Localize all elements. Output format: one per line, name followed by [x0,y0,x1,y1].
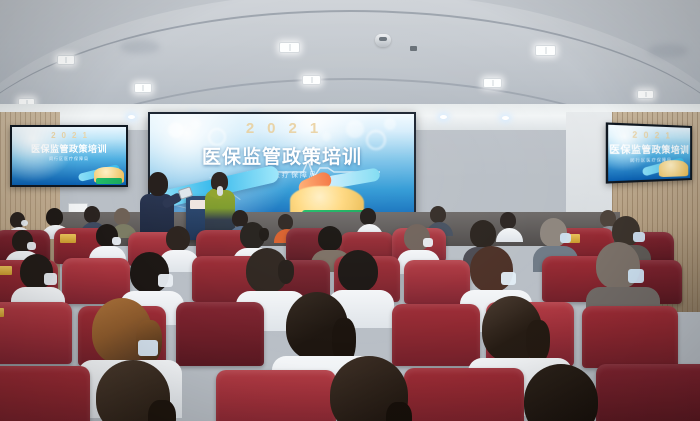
person-head [278,214,293,230]
ponytail [148,400,176,421]
seat-number-plaque [0,308,4,317]
side-display-right-content: 2021 医保监管政策培训 闵行区医疗保障局 [608,125,690,182]
person-head [360,208,376,225]
person-head [470,220,496,248]
led-panel [57,55,75,65]
audience-person [96,224,126,260]
face-mask [560,233,571,243]
led-panel [302,75,321,85]
seat [404,260,470,304]
led-panel [535,45,556,56]
audience-area [0,206,700,421]
side-left-green-bar [96,178,122,184]
person-head [166,226,190,251]
led-panel [483,78,502,88]
seat [176,302,264,366]
ponytail [259,228,269,241]
person-head [470,246,513,292]
photographer-head [148,172,168,196]
seat [582,306,678,368]
person-head [46,208,63,226]
led-panel [134,83,152,93]
seat-number-plaque [0,266,12,275]
audience-person [524,364,616,421]
ponytail [386,402,412,421]
auditorium-photo: 2021 医保监管政策培训 闵行区医疗保障局 2021 医保监管政策培训 闵行区… [0,0,700,421]
seat [0,366,90,421]
seat [0,302,72,364]
downlight [128,115,135,119]
face-mask [44,273,57,285]
side-display-right: 2021 医保监管政策培训 闵行区医疗保障局 [606,122,692,183]
side-right-year: 2021 [608,129,690,141]
person-head [430,206,446,223]
screen-year: 2021 [150,120,414,137]
ceiling-smudge [120,40,160,54]
microphone-icon [217,186,223,196]
face-mask [27,242,36,250]
seat-number-plaque [60,234,76,243]
side-right-title: 医保监管政策培训 [608,142,690,157]
led-panel [279,42,300,53]
side-left-title: 医保监管政策培训 [12,142,126,155]
downlight [502,116,509,120]
led-panel [637,90,654,99]
ceiling-sensor [410,46,417,51]
face-mask [501,272,516,285]
face-mask [112,237,121,245]
ponytail [278,260,294,284]
downlight [440,115,447,119]
face-mask [138,340,158,356]
audience-person [596,242,654,316]
face-mask [21,220,28,226]
person-head [318,226,342,251]
audience-person [330,356,426,421]
person-head [84,206,100,223]
face-mask [628,269,644,283]
seat [216,370,336,421]
face-mask [633,232,645,242]
side-right-pill-mound [659,160,688,177]
person-head [338,250,378,292]
side-display-left-content: 2021 医保监管政策培训 闵行区医疗保障局 [12,127,126,185]
ceiling-smudge [648,44,688,58]
face-mask [423,238,433,247]
side-display-left: 2021 医保监管政策培训 闵行区医疗保障局 [10,125,128,187]
side-left-year: 2021 [12,131,126,140]
smartphone-icon [178,186,193,200]
face-mask [158,274,173,287]
person-head [524,364,598,421]
audience-person [96,360,192,421]
person-head [114,208,130,225]
dome-camera-icon [375,34,391,47]
side-left-subtitle: 闵行区医疗保障局 [12,156,126,162]
audience-person [360,208,382,232]
